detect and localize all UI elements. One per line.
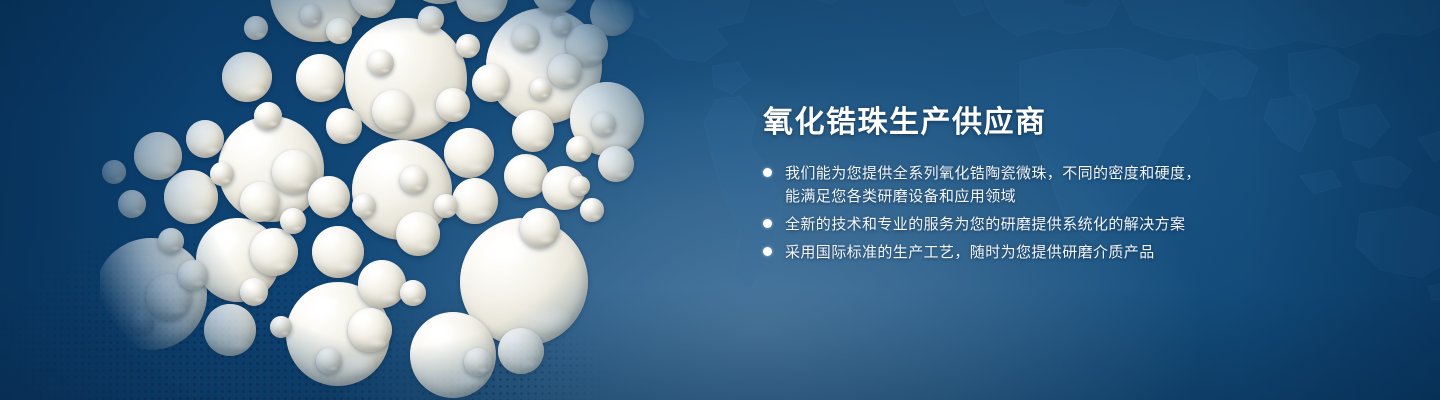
banner-text-block: 氧化锆珠生产供应商 我们能为您提供全系列氧化锆陶瓷微珠，不同的密度和硬度，能满足…	[763, 104, 1243, 269]
list-item: 我们能为您提供全系列氧化锆陶瓷微珠，不同的密度和硬度，能满足您各类研磨设备和应用…	[763, 162, 1243, 208]
filled-circle-bullet-icon	[763, 168, 772, 177]
feature-list: 我们能为您提供全系列氧化锆陶瓷微珠，不同的密度和硬度，能满足您各类研磨设备和应用…	[763, 162, 1243, 264]
list-item-label: 采用国际标准的生产工艺，随时为您提供研磨介质产品	[785, 241, 1155, 264]
list-item: 采用国际标准的生产工艺，随时为您提供研磨介质产品	[763, 241, 1243, 264]
hero-banner: 氧化锆珠生产供应商 我们能为您提供全系列氧化锆陶瓷微珠，不同的密度和硬度，能满足…	[0, 0, 1440, 400]
list-item-label: 我们能为您提供全系列氧化锆陶瓷微珠，不同的密度和硬度，能满足您各类研磨设备和应用…	[785, 162, 1209, 208]
list-item-label: 全新的技术和专业的服务为您的研磨提供系统化的解决方案	[785, 213, 1185, 236]
filled-circle-bullet-icon	[763, 247, 772, 256]
list-item: 全新的技术和专业的服务为您的研磨提供系统化的解决方案	[763, 213, 1243, 236]
page-title: 氧化锆珠生产供应商	[763, 104, 1243, 142]
filled-circle-bullet-icon	[763, 219, 772, 228]
